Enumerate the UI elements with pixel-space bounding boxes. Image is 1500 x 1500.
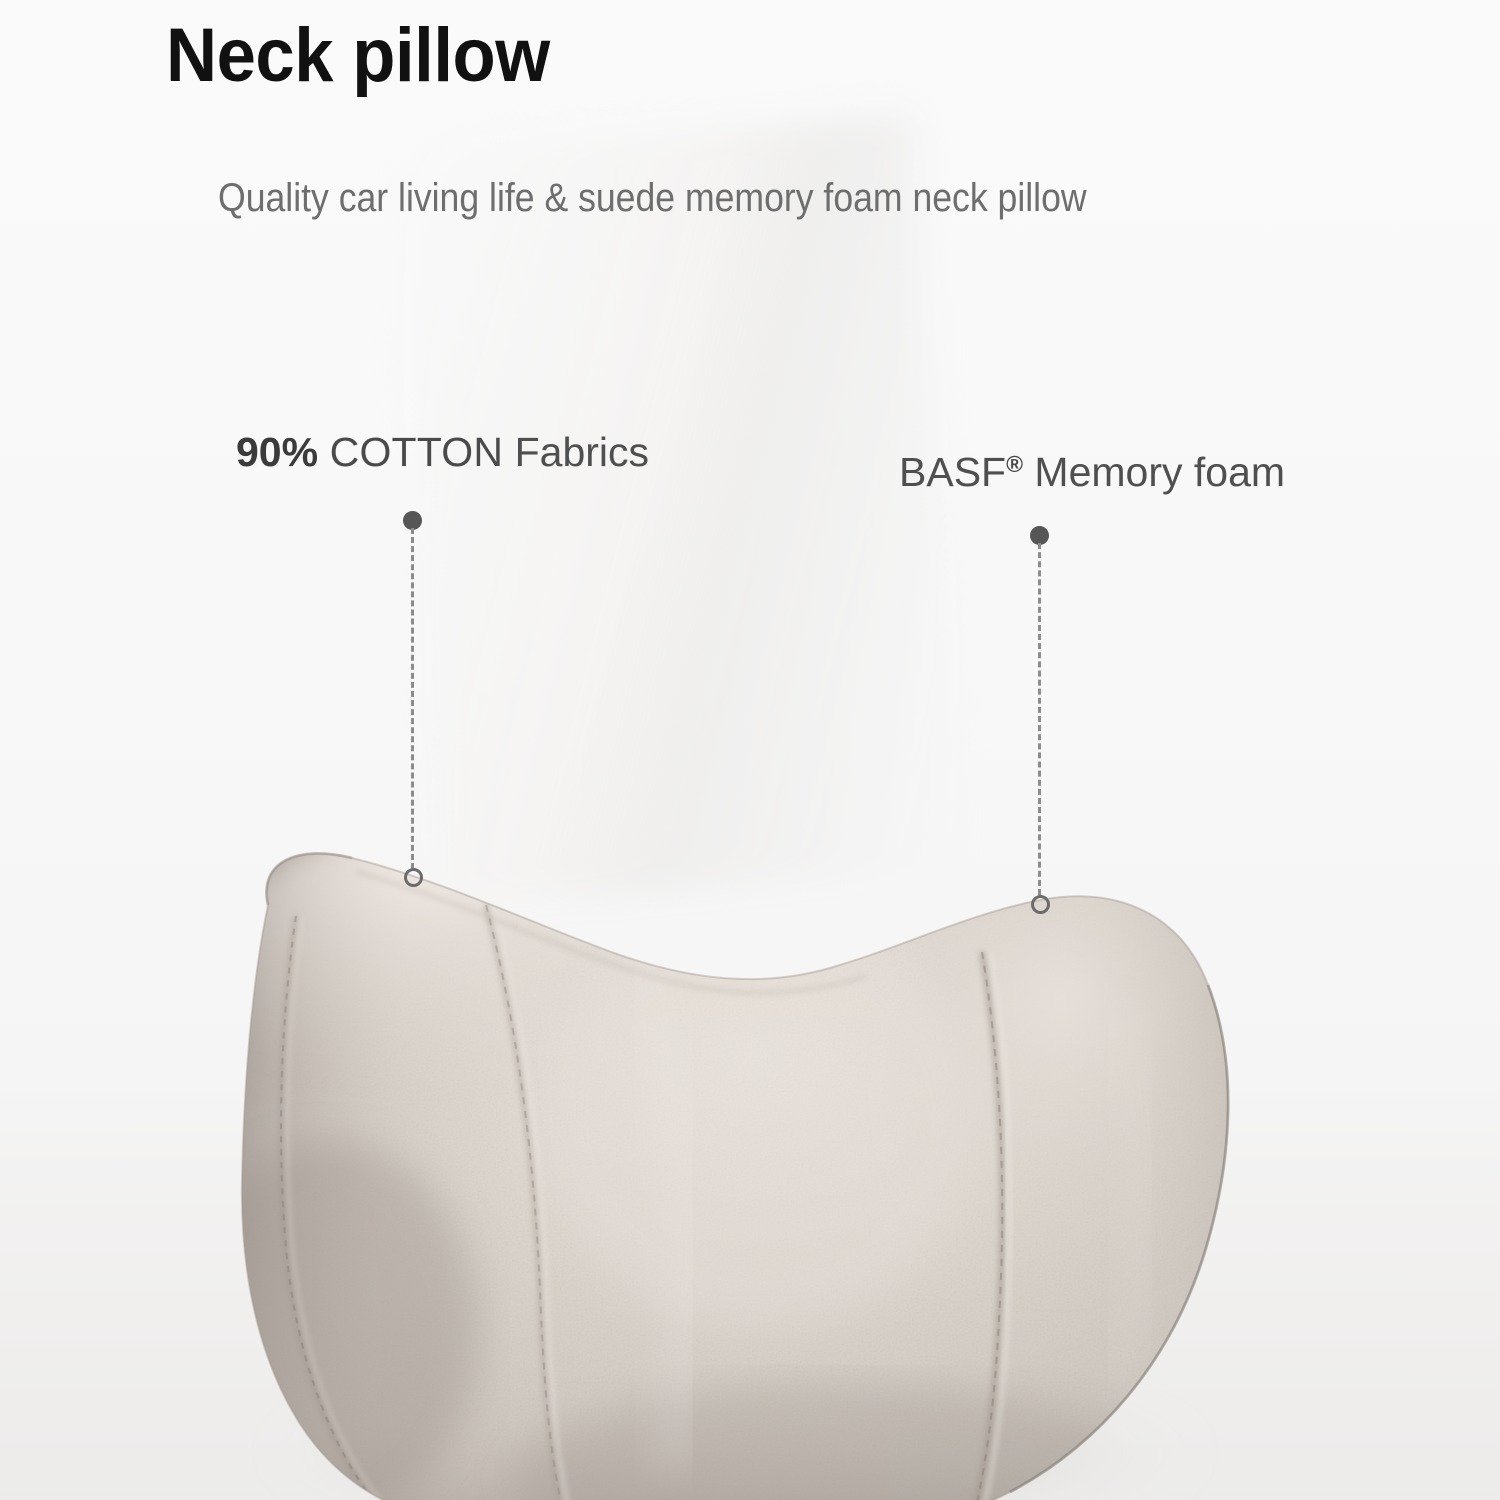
leader-anchor-ring-icon: [404, 868, 423, 887]
callout-material: COTTON: [318, 429, 503, 475]
callout-percent: 90%: [236, 429, 318, 475]
callout-label-memory-foam: BASF® Memory foam: [899, 452, 1285, 493]
callout-label-cotton-fabrics: 90% COTTON Fabrics: [236, 432, 649, 473]
callout-brand: BASF: [899, 449, 1006, 495]
page-title: Neck pillow: [166, 16, 550, 96]
leader-anchor-ring-icon: [1031, 895, 1050, 914]
product-image-neck-pillow: [0, 0, 1500, 1500]
callout-noun: Fabrics: [515, 429, 649, 475]
page-subtitle: Quality car living life & suede memory f…: [218, 175, 1087, 221]
leader-dash-icon: [411, 528, 414, 869]
registered-trademark-icon: ®: [1006, 451, 1023, 477]
leader-dash-icon: [1038, 543, 1041, 895]
pillow-body: [180, 820, 1270, 1500]
callout-noun: Memory foam: [1034, 449, 1285, 495]
product-infographic: Neck pillow Quality car living life & su…: [0, 0, 1500, 1500]
